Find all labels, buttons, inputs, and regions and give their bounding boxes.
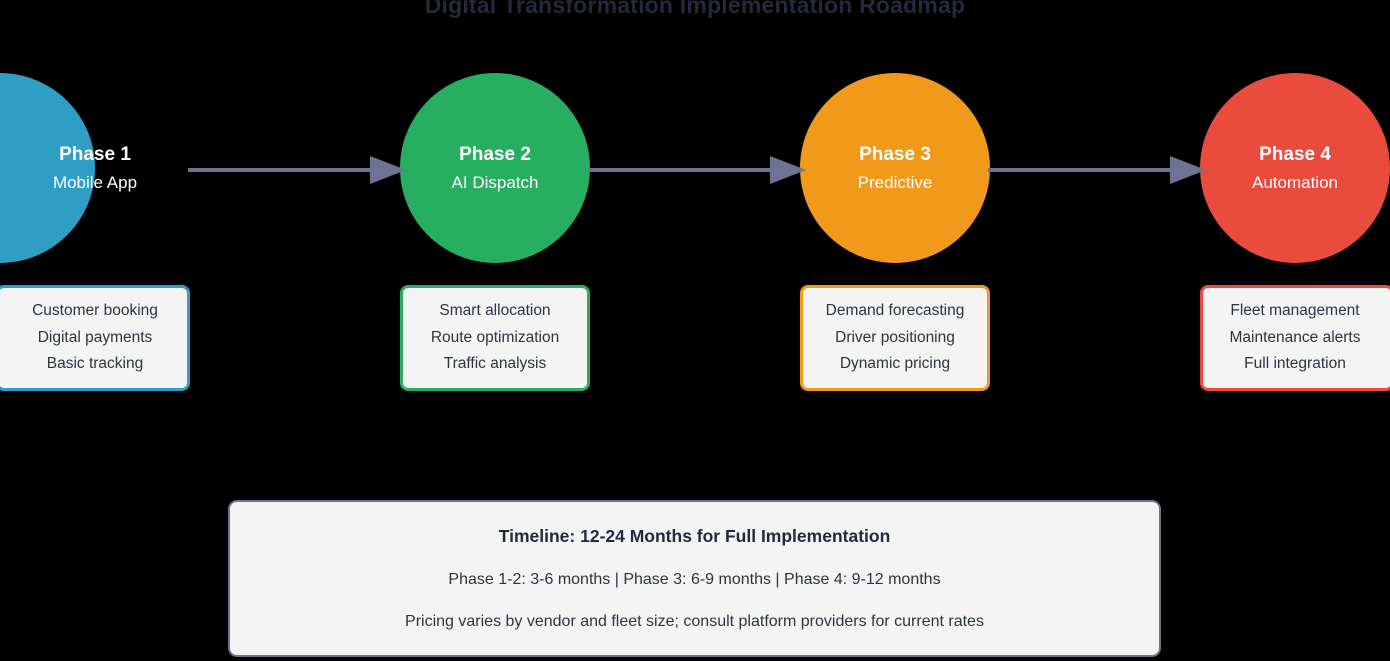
timeline-phase-durations: Phase 1-2: 3-6 months | Phase 3: 6-9 mon… [448,571,940,589]
detail-item: Digital payments [38,325,153,352]
detail-item: Full integration [1244,351,1346,378]
page-title: Digital Transformation Implementation Ro… [0,0,1390,19]
phase-circle-2[interactable]: Phase 2 AI Dispatch [400,73,590,263]
detail-item: Route optimization [431,325,559,352]
phase-circle-4[interactable]: Phase 4 Automation [1200,73,1390,263]
phase-detail-box-2-content: Smart allocation Route optimization Traf… [431,298,559,378]
phase-circle-2-content: Phase 2 AI Dispatch [452,145,539,191]
timeline-pricing-note: Pricing varies by vendor and fleet size;… [405,613,984,631]
phase-circle-3-subtitle: Predictive [858,174,933,191]
phase-circle-1[interactable]: Phase 1 Mobile App [0,73,95,263]
detail-item: Maintenance alerts [1230,325,1361,352]
detail-item: Dynamic pricing [840,351,950,378]
phase-circle-1-subtitle: Mobile App [53,174,137,191]
arrow-phase3-to-phase4 [988,150,1206,190]
timeline-summary-box: Timeline: 12-24 Months for Full Implemen… [228,500,1161,657]
phase-detail-box-2[interactable]: Smart allocation Route optimization Traf… [400,285,590,391]
arrow-phase2-to-phase3 [588,150,806,190]
phase-circle-3-content: Phase 3 Predictive [858,145,933,191]
phase-detail-box-4[interactable]: Fleet management Maintenance alerts Full… [1200,285,1390,391]
phase-detail-box-3-content: Demand forecasting Driver positioning Dy… [826,298,965,378]
phase-detail-box-1[interactable]: Customer booking Digital payments Basic … [0,285,190,391]
arrow-right-icon [188,150,406,190]
phase-circle-4-content: Phase 4 Automation [1252,145,1338,191]
phase-circle-1-content: Phase 1 Mobile App [53,145,137,191]
phase-circle-3-title: Phase 3 [859,145,931,164]
arrow-right-icon [588,150,806,190]
phase-circle-4-subtitle: Automation [1252,174,1338,191]
phase-circle-4-title: Phase 4 [1259,145,1331,164]
detail-item: Demand forecasting [826,298,965,325]
detail-item: Customer booking [32,298,158,325]
timeline-heading: Timeline: 12-24 Months for Full Implemen… [499,526,891,547]
detail-item: Basic tracking [47,351,143,378]
detail-item: Fleet management [1230,298,1359,325]
arrow-phase1-to-phase2 [188,150,406,190]
phase-circle-1-title: Phase 1 [59,145,131,164]
phase-detail-box-4-content: Fleet management Maintenance alerts Full… [1230,298,1361,378]
detail-item: Driver positioning [835,325,955,352]
phase-circle-2-title: Phase 2 [459,145,531,164]
phase-detail-box-1-content: Customer booking Digital payments Basic … [32,298,158,378]
arrow-right-icon [988,150,1206,190]
phase-circle-2-subtitle: AI Dispatch [452,174,539,191]
phase-detail-box-3[interactable]: Demand forecasting Driver positioning Dy… [800,285,990,391]
phase-circle-3[interactable]: Phase 3 Predictive [800,73,990,263]
detail-item: Traffic analysis [444,351,547,378]
detail-item: Smart allocation [439,298,550,325]
